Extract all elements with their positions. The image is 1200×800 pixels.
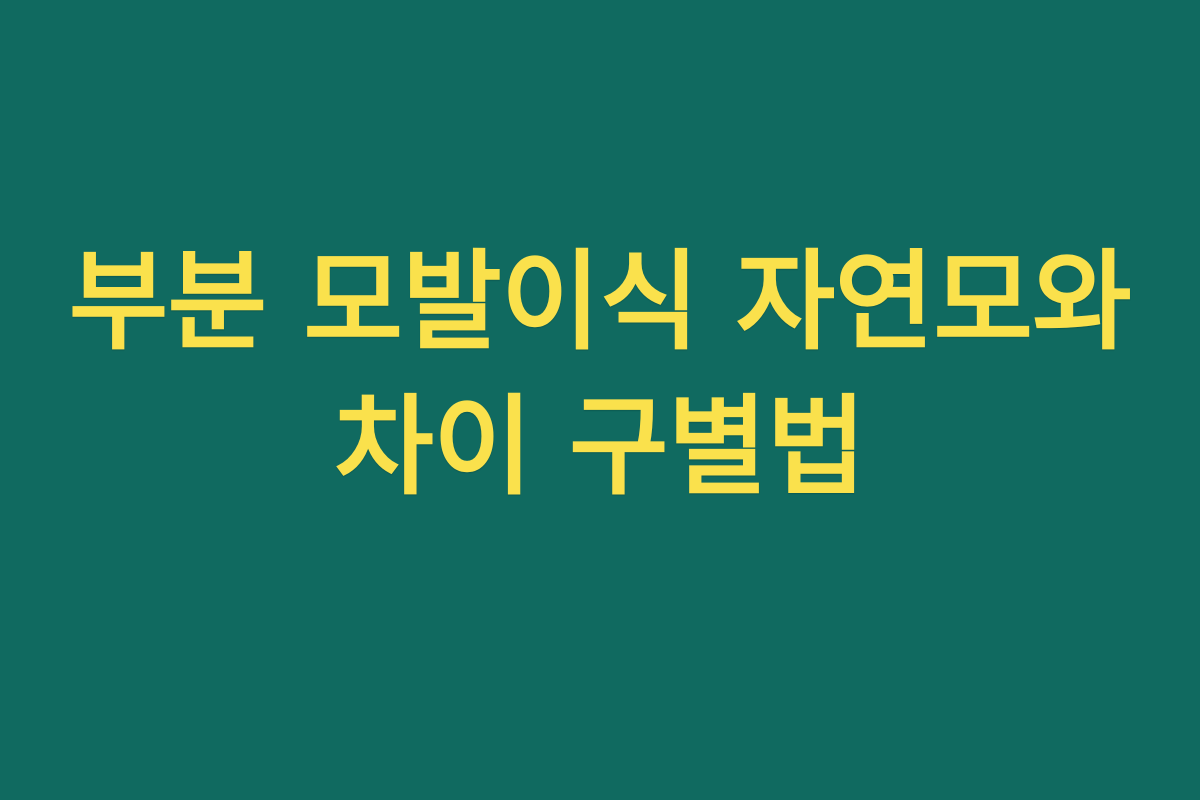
title-block: 부분 모발이식 자연모와 차이 구별법 [0, 0, 1200, 800]
thumbnail-canvas: 부분 모발이식 자연모와 차이 구별법 [0, 0, 1200, 800]
title-line-1: 부분 모발이식 자연모와 [69, 231, 1131, 376]
title-line-2: 차이 구별법 [334, 376, 865, 521]
